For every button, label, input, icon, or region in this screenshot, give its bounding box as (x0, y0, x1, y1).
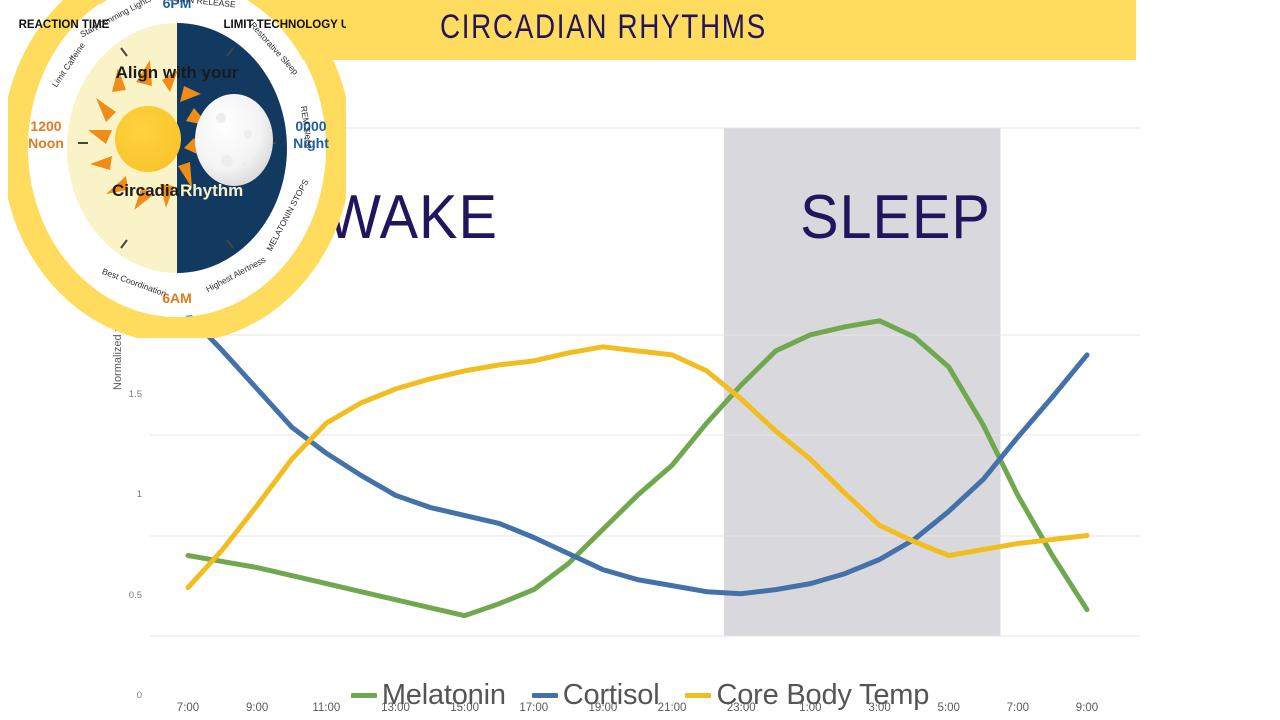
legend-swatch (351, 693, 377, 698)
clock-headline-line2-night: Rhythm (180, 181, 243, 200)
circadian-clock-graphic: Align with your Circadian Rhythm 6PM 6AM… (8, 0, 346, 338)
legend-label: Melatonin (382, 679, 506, 712)
legend-label: Core Body Temp (716, 679, 929, 712)
legend-swatch (685, 693, 711, 698)
page-title: CIRCADIAN RHYTHMS (440, 8, 1014, 47)
chart-legend: MelatoninCortisolCore Body Temp (0, 679, 1280, 712)
clock-headline-line1: Align with your (116, 63, 239, 82)
sleep-region-label: SLEEP (800, 182, 991, 253)
clock-headline-line2-day: Circadian (112, 181, 189, 200)
clock-time-left-line2: Noon (28, 135, 64, 151)
legend-swatch (532, 693, 558, 698)
slide-canvas: WAKE SLEEP Normalized value TIME 00.511.… (0, 0, 1280, 720)
y-tick-label: 0.5 (108, 590, 142, 601)
y-tick-label: 1 (108, 489, 142, 500)
wake-region-label: WAKE (326, 182, 497, 253)
clock-time-bottom: 6AM (162, 290, 192, 306)
clock-outer-label-1: LIMIT TECHNOLOGY USE (224, 19, 347, 31)
y-tick-label: 1.5 (108, 389, 142, 400)
legend-label: Cortisol (563, 679, 660, 712)
moon-icon (195, 94, 273, 186)
clock-time-left-line1: 1200 (30, 118, 61, 134)
legend-item-cortisol[interactable]: Cortisol (532, 679, 660, 712)
legend-item-core-body-temp[interactable]: Core Body Temp (685, 679, 929, 712)
legend-item-melatonin[interactable]: Melatonin (351, 679, 506, 712)
